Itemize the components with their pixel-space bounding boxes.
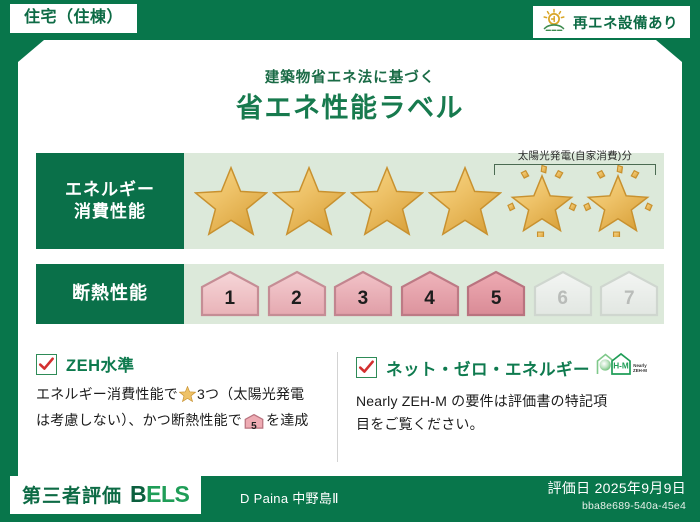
net-zero-header: ネット・ゼロ・エネルギー H-M <box>356 352 648 383</box>
net-zero-body: Nearly ZEH-M の要件は評価書の特記項 目をご覧ください。 <box>356 390 648 435</box>
insulation-row-label: 断熱性能 <box>36 264 184 324</box>
insulation-level-1-label: 1 <box>225 288 236 310</box>
star-filled <box>270 155 348 247</box>
evaluation-date-value: 2025年9月9日 <box>595 480 686 496</box>
star-filled <box>192 155 270 247</box>
inline-house-icon: 5 <box>244 413 264 437</box>
evaluation-date-label: 評価日 <box>547 480 590 496</box>
bels-logo-b: B <box>130 481 146 507</box>
renewable-energy-badge: 再エネ設備あり <box>533 6 690 38</box>
zeh-m-logo-text: H-M <box>613 361 629 370</box>
insulation-level-3-label: 3 <box>358 288 369 310</box>
title-subtitle: 建築物省エネ法に基づく <box>0 66 700 87</box>
bels-logo-els: ELS <box>146 481 189 507</box>
third-party-label: 第三者評価 <box>22 481 122 508</box>
net-zero-body-line1: Nearly ZEH-M の要件は評価書の特記項 <box>356 393 607 409</box>
insulation-level-4: 4 <box>398 269 462 319</box>
building-type-tag: 住宅（住棟） <box>10 4 137 33</box>
inline-star-icon <box>179 389 196 405</box>
insulation-level-3: 3 <box>331 269 395 319</box>
insulation-level-2: 2 <box>265 269 329 319</box>
insulation-level-scale: 1 2 3 <box>184 264 664 324</box>
sun-icon <box>541 8 567 37</box>
insulation-level-6: 6 <box>531 269 595 319</box>
insulation-level-7-label: 7 <box>624 288 635 310</box>
insulation-level-5: 5 <box>464 269 528 319</box>
zeh-standard-title: ZEH水準 <box>66 352 135 376</box>
star-filled <box>348 155 426 247</box>
energy-performance-label: 住宅（住棟） 再エネ設備あり 建築物省エネ法に基づく 省エネ性能ラベル <box>0 0 700 522</box>
insulation-level-5-label: 5 <box>491 288 502 310</box>
footer-meta: 評価日 2025年9月9日 bba8e689-540a-45e4 <box>547 478 686 512</box>
insulation-level-2-label: 2 <box>291 288 302 310</box>
evaluation-date: 評価日 2025年9月9日 <box>547 478 686 498</box>
star-solar <box>580 155 656 247</box>
zeh-standard-body: エネルギー消費性能で3つ（太陽光発電 は考慮しない）、かつ断熱性能で5を達成 <box>36 383 321 436</box>
net-zero-energy-section: ネット・ゼロ・エネルギー H-M <box>337 352 664 462</box>
checkbox-checked-icon <box>36 354 57 375</box>
evaluation-uid: bba8e689-540a-45e4 <box>547 500 686 512</box>
zeh-body-part3: は考慮しない）、かつ断熱性能で <box>36 412 242 428</box>
insulation-label-text: 断熱性能 <box>72 282 148 305</box>
zeh-body-part1: エネルギー消費性能で <box>36 386 178 402</box>
page-title: 省エネ性能ラベル <box>0 86 700 125</box>
star-filled <box>426 155 504 247</box>
energy-row-label: エネルギー 消費性能 <box>36 153 184 249</box>
zeh-standard-section: ZEH水準 エネルギー消費性能で3つ（太陽光発電 は考慮しない）、かつ断熱性能で… <box>36 352 337 462</box>
net-zero-title: ネット・ゼロ・エネルギー <box>386 356 590 380</box>
energy-performance-row: エネルギー 消費性能 太陽光発電(自家消費)分 <box>36 153 664 249</box>
svg-text:ZEH-M: ZEH-M <box>633 368 647 373</box>
inline-house-level: 5 <box>244 419 264 435</box>
star-rating <box>184 153 664 249</box>
energy-label-line1: エネルギー <box>65 179 155 201</box>
zeh-standard-header: ZEH水準 <box>36 352 321 376</box>
insulation-level-7: 7 <box>597 269 661 319</box>
zeh-m-logo-icon: H-M Nearly ZEH-M <box>596 352 648 383</box>
net-zero-body-line2: 目をご覧ください。 <box>356 416 484 432</box>
zeh-body-part2: 3つ（太陽光発電 <box>197 386 304 402</box>
renewable-badge-label: 再エネ設備あり <box>573 12 678 33</box>
insulation-row-body: 1 2 3 <box>184 264 664 324</box>
criteria-sections: ZEH水準 エネルギー消費性能で3つ（太陽光発電 は考慮しない）、かつ断熱性能で… <box>36 352 664 462</box>
energy-row-body: 太陽光発電(自家消費)分 <box>184 153 664 249</box>
bels-logo: BELS <box>130 481 189 508</box>
checkbox-checked-icon <box>356 357 377 378</box>
bels-footer-tag: 第三者評価 BELS <box>10 476 201 514</box>
insulation-level-1: 1 <box>198 269 262 319</box>
insulation-performance-row: 断熱性能 1 2 <box>36 264 664 324</box>
zeh-body-part4: を達成 <box>266 412 309 428</box>
energy-label-line2: 消費性能 <box>74 201 146 223</box>
insulation-level-4-label: 4 <box>424 288 435 310</box>
insulation-level-6-label: 6 <box>557 288 568 310</box>
star-solar <box>504 155 580 247</box>
building-name: D Paina 中野島Ⅱ <box>240 488 339 507</box>
